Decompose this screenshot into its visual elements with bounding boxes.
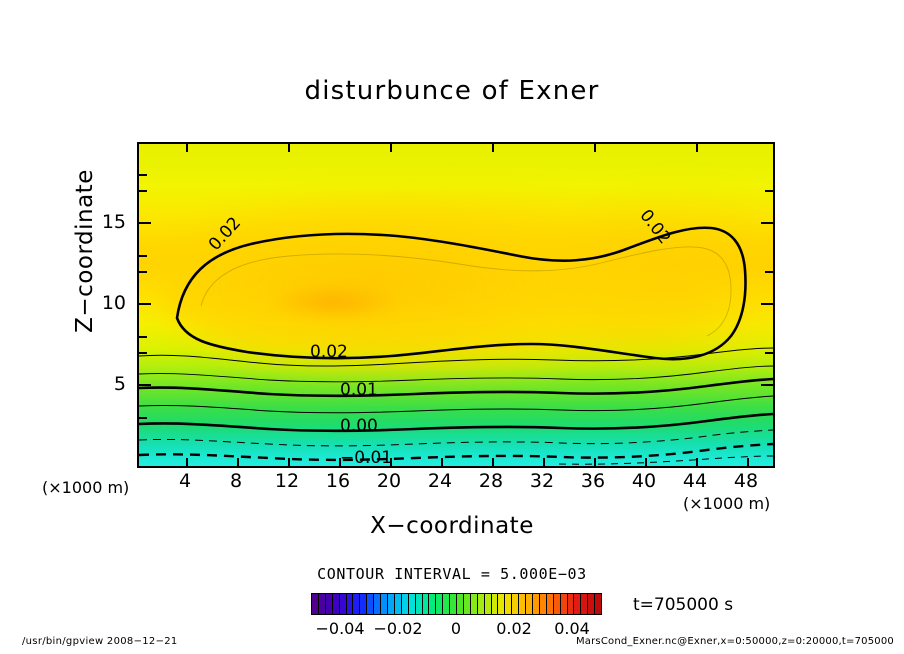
y-tick-7 — [139, 352, 147, 354]
colorbar-band — [595, 594, 601, 614]
y-tick-10 — [139, 303, 151, 305]
x-tick-44 — [696, 458, 698, 466]
y-axis-label-5: 5 — [92, 373, 126, 395]
colorbar-band — [395, 594, 402, 614]
x-axis-label-32: 32 — [522, 470, 562, 492]
contour-label-minus-001: −0.01 — [340, 448, 392, 468]
colorbar — [311, 593, 602, 615]
x-axis-label-44: 44 — [675, 470, 715, 492]
colorbar-band — [353, 594, 360, 614]
x-tick-40 — [645, 458, 647, 466]
colorbar-band — [340, 594, 347, 614]
colorbar-band — [450, 594, 457, 614]
colorbar-band — [554, 594, 561, 614]
colorbar-band — [505, 594, 512, 614]
y-tick-3 — [139, 417, 147, 419]
x-tick-24 — [441, 458, 443, 466]
colorbar-band — [485, 594, 492, 614]
x-tick-36 — [594, 458, 596, 466]
x-axis-label-48: 48 — [726, 470, 766, 492]
x-tick-32 — [543, 458, 545, 466]
footer-dataset-info: MarsCond_Exner.nc@Exner,x=0:50000,z=0:20… — [576, 636, 894, 647]
colorbar-band — [568, 594, 575, 614]
colorbar-band — [381, 594, 388, 614]
x-unit-right-label: (×1000 m) — [683, 494, 770, 513]
colorbar-band — [526, 594, 533, 614]
y-tick-5 — [139, 384, 151, 386]
colorbar-tick-0.02: 0.02 — [484, 619, 544, 638]
colorbar-band — [360, 594, 367, 614]
x-axis-label-40: 40 — [624, 470, 664, 492]
colorbar-band — [347, 594, 354, 614]
x-axis-label-28: 28 — [471, 470, 511, 492]
contour-interval-label: CONTOUR INTERVAL = 5.000E−03 — [0, 565, 904, 583]
x-axis-label-16: 16 — [318, 470, 358, 492]
colorbar-band — [436, 594, 443, 614]
x-unit-left-label: (×1000 m) — [42, 478, 129, 497]
colorbar-band — [367, 594, 374, 614]
x-axis-label-36: 36 — [573, 470, 613, 492]
time-label: t=705000 s — [633, 595, 733, 615]
colorbar-band — [457, 594, 464, 614]
x-tick-top-28 — [492, 144, 494, 152]
colorbar-band — [333, 594, 340, 614]
x-tick-top-44 — [696, 144, 698, 152]
colorbar-band — [388, 594, 395, 614]
x-axis-label-20: 20 — [369, 470, 409, 492]
x-axis-label-8: 8 — [216, 470, 256, 492]
colorbar-band — [547, 594, 554, 614]
colorbar-tick-0: 0 — [426, 619, 486, 638]
x-tick-8 — [237, 458, 239, 466]
colorbar-band — [464, 594, 471, 614]
colorbar-band — [471, 594, 478, 614]
contour-label-001: 0.01 — [340, 380, 378, 400]
y-tick-right-5 — [761, 384, 773, 386]
y-tick-right-17 — [765, 190, 773, 192]
x-tick-48 — [747, 458, 749, 466]
y-tick-17 — [139, 190, 147, 192]
colorbar-band — [492, 594, 499, 614]
x-tick-12 — [288, 458, 290, 466]
y-tick-15 — [139, 222, 151, 224]
colorbar-band — [478, 594, 485, 614]
x-axis-label-4: 4 — [165, 470, 205, 492]
colorbar-band — [319, 594, 326, 614]
x-tick-28 — [492, 458, 494, 466]
colorbar-band — [416, 594, 423, 614]
colorbar-band — [533, 594, 540, 614]
y-tick-right-10 — [761, 303, 773, 305]
x-axis-label-12: 12 — [267, 470, 307, 492]
colorbar-band — [429, 594, 436, 614]
plot-area: 0.02 0.02 0.02 0.01 0.00 −0.01 — [137, 142, 775, 468]
y-axis-title: Z−coordinate — [72, 141, 98, 361]
x-tick-top-36 — [594, 144, 596, 152]
y-tick-18 — [139, 174, 147, 176]
contour-label-002-lower: 0.02 — [310, 342, 348, 362]
colorbar-band — [409, 594, 416, 614]
y-tick-13 — [139, 255, 147, 257]
colorbar-band — [561, 594, 568, 614]
colorbar-band — [312, 594, 319, 614]
colorbar-tick-labels: −0.04 −0.02 0 0.02 0.04 — [311, 619, 602, 641]
page-title: disturbunce of Exner — [0, 76, 904, 106]
colorbar-band — [574, 594, 581, 614]
x-axis-title: X−coordinate — [0, 513, 904, 539]
x-tick-top-20 — [390, 144, 392, 152]
colorbar-band — [423, 594, 430, 614]
colorbar-band — [581, 594, 588, 614]
y-tick-8 — [139, 336, 147, 338]
x-tick-top-12 — [288, 144, 290, 152]
colorbar-band — [402, 594, 409, 614]
y-tick-12 — [139, 271, 147, 273]
colorbar-band — [443, 594, 450, 614]
contour-lines — [139, 144, 773, 466]
colorbar-tick--0.02: −0.02 — [368, 619, 428, 638]
x-tick-4 — [186, 458, 188, 466]
y-tick-right-15 — [761, 222, 773, 224]
x-axis-label-24: 24 — [420, 470, 460, 492]
colorbar-tick--0.04: −0.04 — [310, 619, 370, 638]
colorbar-band — [519, 594, 526, 614]
colorbar-band — [498, 594, 505, 614]
y-tick-right-12 — [765, 271, 773, 273]
colorbar-band — [512, 594, 519, 614]
x-tick-top-4 — [186, 144, 188, 152]
colorbar-band — [374, 594, 381, 614]
colorbar-band — [588, 594, 595, 614]
colorbar-band — [326, 594, 333, 614]
colorbar-band — [540, 594, 547, 614]
footer-command-date: /usr/bin/gpview 2008−12−21 — [22, 636, 178, 647]
contour-label-000: 0.00 — [340, 416, 378, 436]
y-tick-right-7 — [765, 352, 773, 354]
